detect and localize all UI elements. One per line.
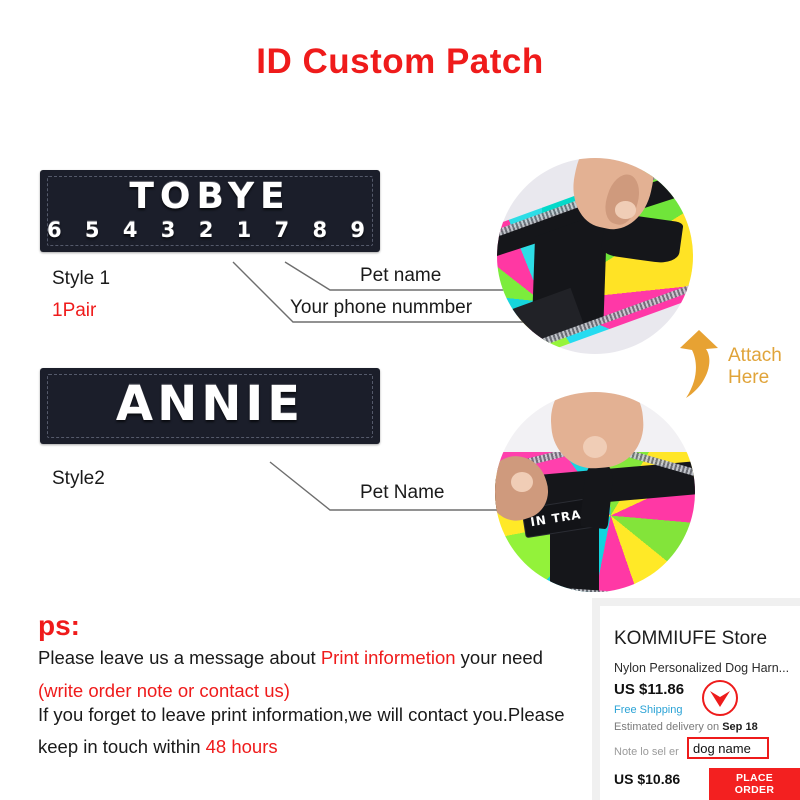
store-card: KOMMIUFE Store Nylon Personalized Dog Ha… [592, 598, 800, 800]
patch-1-name-text: TOBYE [40, 176, 380, 217]
product-price: US $11.86 [614, 681, 684, 698]
ps-line-4: keep in touch within 48 hours [38, 736, 278, 758]
patch-style-1: TOBYE 6 5 4 3 2 1 7 8 9 [40, 170, 380, 252]
fingernail [583, 436, 607, 458]
fingernail [615, 201, 637, 219]
page-title: ID Custom Patch [0, 42, 800, 82]
photo-harness-top [497, 158, 693, 354]
discounted-price: US $10.86 [614, 771, 680, 787]
attach-line-2: Here [728, 367, 782, 389]
free-shipping-label: Free Shipping [614, 704, 683, 716]
delivery-prefix: Estimated delivery on [614, 721, 722, 733]
ps-line-4-part-a: keep in touch within [38, 736, 206, 757]
fingernail [511, 472, 533, 492]
ps-line-3: If you forget to leave print information… [38, 704, 565, 726]
estimated-delivery-label: Estimated delivery on Sep 18 [614, 721, 758, 733]
ps-line-1: Please leave us a message about Print in… [38, 647, 543, 669]
product-infographic: ID Custom Patch TOBYE 6 5 4 3 2 1 7 8 9 … [0, 0, 800, 800]
callout-pet-name-2: Pet Name [360, 482, 444, 504]
ps-line-1-part-a: Please leave us a message about [38, 647, 321, 668]
callout-phone-number: Your phone nummber [290, 297, 472, 319]
red-circle-down-chevron-icon [700, 678, 740, 718]
curved-arrow-up-left-icon [668, 322, 724, 408]
attach-here-label: Attach Here [728, 345, 782, 389]
ps-line-4-highlight: 48 hours [206, 736, 278, 757]
ps-heading: ps: [38, 610, 80, 642]
style-1-label: Style 1 [52, 268, 110, 290]
photo-harness-bottom: IN TRAIN [495, 392, 695, 592]
delivery-date: Sep 18 [722, 721, 757, 733]
style-2-label: Style2 [52, 468, 105, 490]
callout-pet-name: Pet name [360, 265, 441, 287]
store-name[interactable]: KOMMIUFE Store [614, 628, 767, 650]
style-1-quantity-label: 1Pair [52, 300, 96, 322]
patch-style-2: ANNIE [40, 368, 380, 444]
place-order-button[interactable]: PLACE ORDER [709, 768, 800, 800]
patch-1-phone-text: 6 5 4 3 2 1 7 8 9 [40, 218, 380, 242]
ps-line-2: (write order note or contact us) [38, 680, 290, 702]
ps-line-1-part-c: your need [456, 647, 543, 668]
note-to-seller-input[interactable]: dog name [687, 737, 769, 759]
attach-line-1: Attach [728, 345, 782, 367]
ps-line-1-highlight: Print informetion [321, 647, 456, 668]
note-to-seller-label: Note lo sel er [614, 746, 679, 758]
product-title[interactable]: Nylon Personalized Dog Harn... [614, 661, 789, 675]
patch-2-name-text: ANNIE [40, 376, 380, 432]
